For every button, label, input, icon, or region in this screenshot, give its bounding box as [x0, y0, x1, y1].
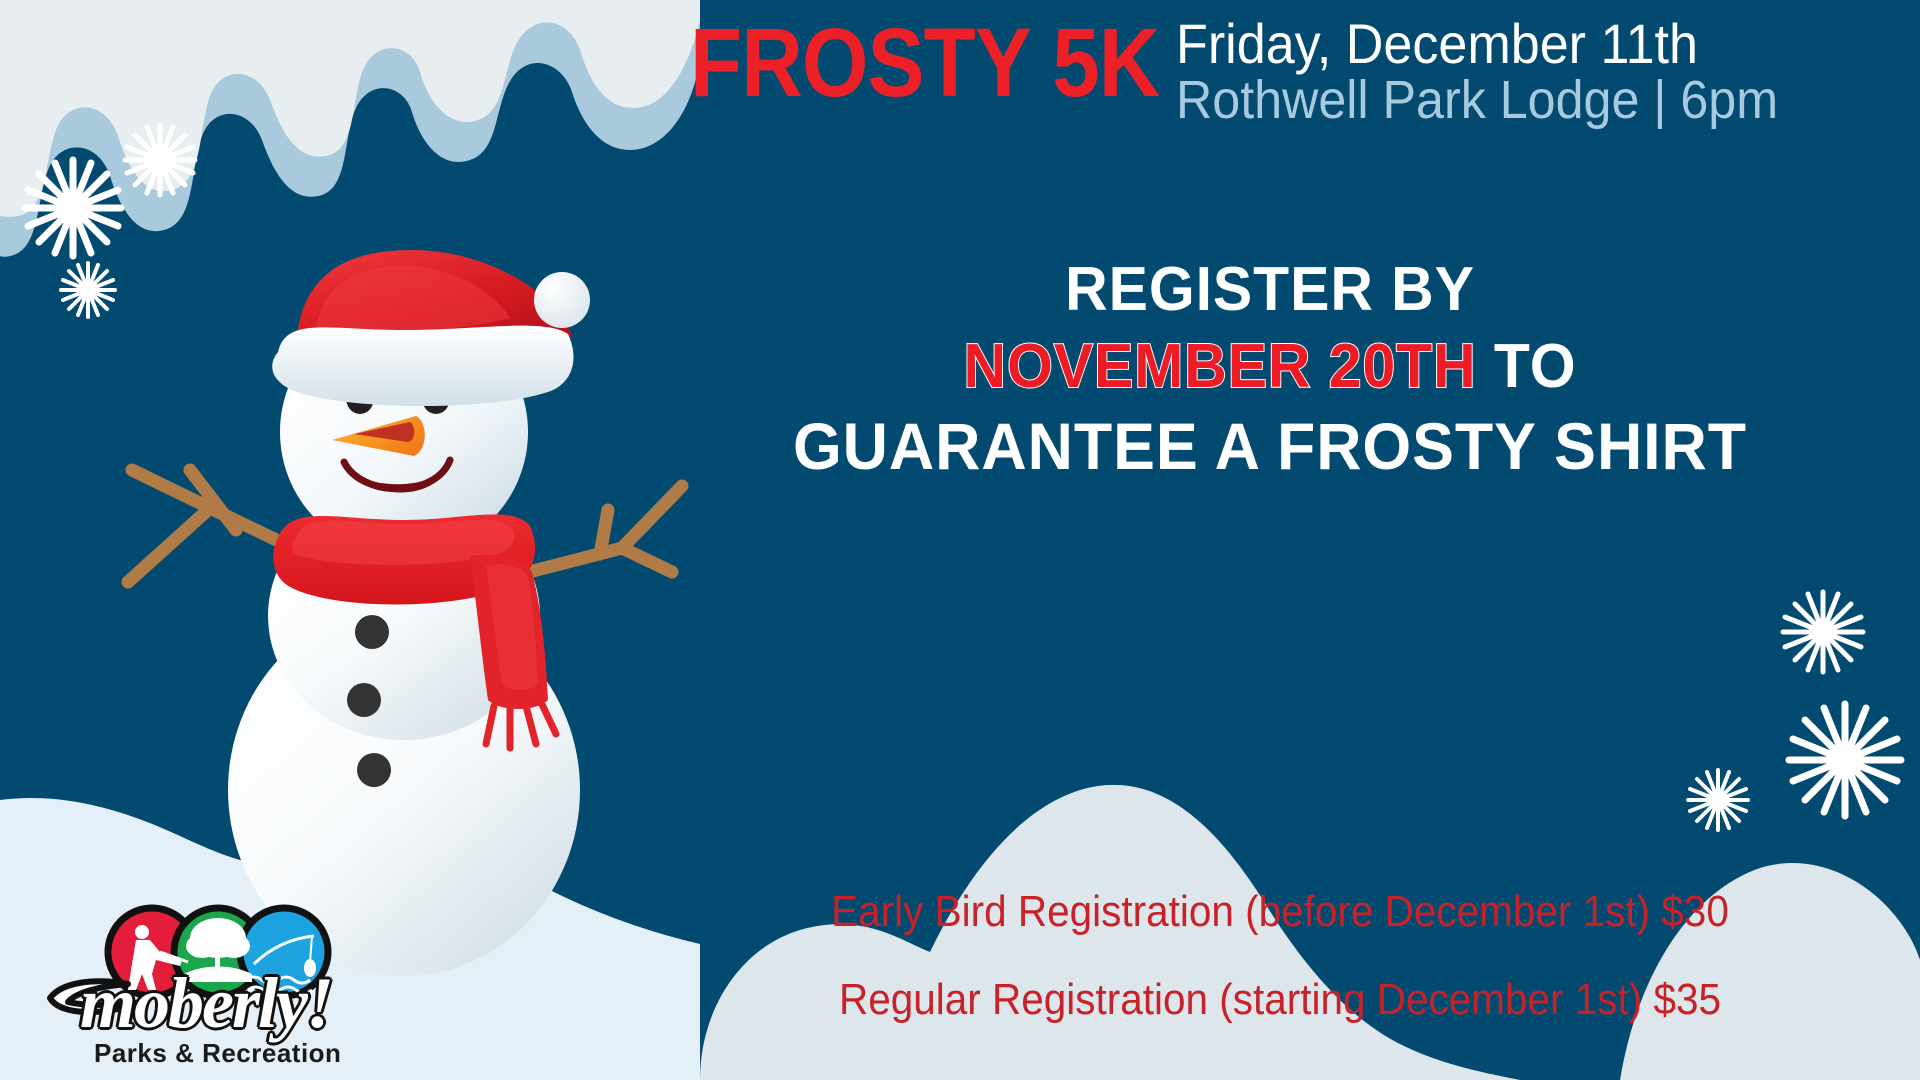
- snowman-button: [347, 683, 381, 717]
- snowman: [128, 250, 682, 976]
- snowflake-icon: [125, 125, 195, 195]
- snowman-scarf-fringe: [486, 700, 556, 748]
- logo-wordmark: moberly!: [80, 962, 332, 1045]
- snowman-scarf: [273, 514, 535, 604]
- snowflake-icon: [1789, 704, 1901, 816]
- snowman-body-middle: [268, 492, 540, 740]
- santa-hat-body: [296, 250, 572, 364]
- headline-line-1: REGISTER BY: [710, 252, 1831, 329]
- snowman-button: [355, 615, 389, 649]
- event-title: FROSTY 5K: [690, 18, 1160, 107]
- logo-tagline: Parks & Recreation: [94, 1038, 341, 1069]
- price-line-regular: Regular Registration (starting December …: [737, 978, 1823, 1022]
- headline-line-3: GUARANTEE A FROSTY SHIRT: [710, 406, 1831, 488]
- snowman-scarf-tail: [470, 555, 548, 709]
- snowman-button: [357, 753, 391, 787]
- poster-canvas: FROSTY 5K Friday, December 11th Rothwell…: [0, 0, 1920, 1080]
- price-line-early-bird: Early Bird Registration (before December…: [737, 890, 1823, 934]
- santa-hat-brim: [272, 326, 573, 406]
- headline-line-2: NOVEMBER 20TH TO: [710, 329, 1831, 406]
- snowflake-icon: [61, 263, 115, 317]
- snowman-smile: [344, 460, 450, 493]
- snowflake-icon: [25, 160, 121, 256]
- snowman-arms: [128, 470, 682, 582]
- headline-block: REGISTER BY NOVEMBER 20TH TO GUARANTEE A…: [680, 252, 1860, 488]
- moberly-parks-logo[interactable]: moberly! Parks & Recreation: [32, 890, 392, 1070]
- headline-line-2-suffix: TO: [1477, 332, 1577, 401]
- snow-drip-white: [0, 0, 700, 217]
- header-block: FROSTY 5K Friday, December 11th Rothwell…: [690, 6, 1920, 126]
- headline-deadline-date: NOVEMBER 20TH: [963, 332, 1476, 401]
- santa-hat-pompom: [534, 272, 590, 328]
- snowflake-icon: [1783, 592, 1863, 672]
- event-details: Friday, December 11th Rothwell Park Lodg…: [1176, 16, 1823, 129]
- pricing-block: Early Bird Registration (before December…: [690, 890, 1870, 1066]
- snowman-head: [280, 308, 528, 556]
- event-location: Rothwell Park Lodge | 6pm: [1176, 72, 1778, 129]
- event-date: Friday, December 11th: [1176, 16, 1778, 72]
- snowman-eyes: [346, 382, 450, 414]
- snowflake-icon: [1688, 770, 1748, 830]
- snow-drip-blue: [0, 0, 700, 257]
- snowman-nose-carrot: [332, 416, 425, 456]
